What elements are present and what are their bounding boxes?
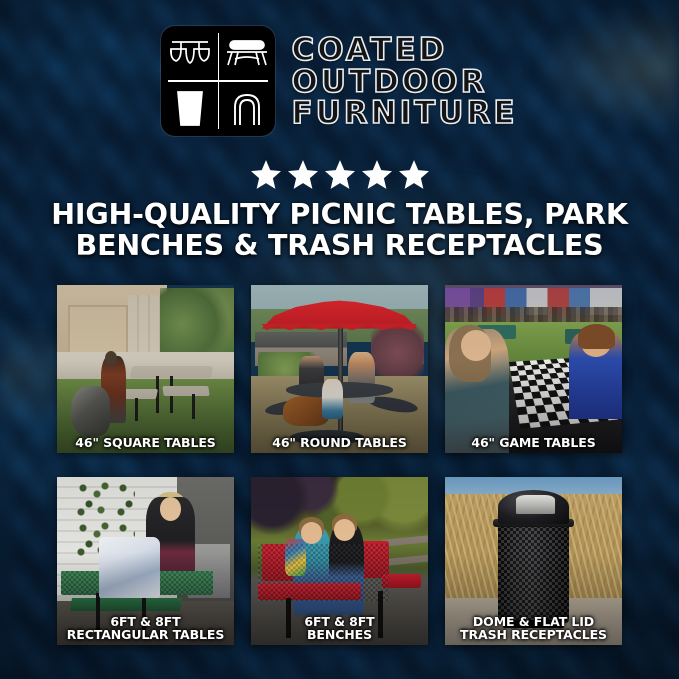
category-caption: 6FT & 8FT RECTANGULAR TABLES [59,615,232,642]
category-caption: DOME & FLAT LID TRASH RECEPTACLES [447,615,620,642]
category-tile-benches[interactable]: 6FT & 8FT BENCHES [251,477,428,645]
brand-wordmark: COATED OUTDOOR FURNITURE [291,33,517,128]
category-caption: 6FT & 8FT BENCHES [253,615,426,642]
star-icon [325,160,355,189]
picnic-table-icon [161,26,218,81]
headline-line-1: HIGH-QUALITY PICNIC TABLES, PARK [51,198,627,231]
wordmark-line-1: COATED [291,35,447,65]
tile-tint [251,285,428,453]
star-icon [399,160,429,189]
category-tile-square-tables[interactable]: 46" SQUARE TABLES [57,285,234,453]
wordmark-line-2: OUTDOOR [291,67,487,97]
category-tile-trash-receptacles[interactable]: DOME & FLAT LID TRASH RECEPTACLES [445,477,622,645]
category-caption: 46" ROUND TABLES [253,436,426,449]
trash-receptacle-icon [161,81,218,136]
star-icon [362,160,392,189]
headline-line-2: BENCHES & TRASH RECEPTACLES [30,231,649,262]
product-banner: COATED OUTDOOR FURNITURE HIGH-QUALITY PI… [0,0,679,679]
star-icon [288,160,318,189]
star-rating [0,160,679,189]
tile-tint [445,285,622,453]
category-tile-rectangular-tables[interactable]: 6FT & 8FT RECTANGULAR TABLES [57,477,234,645]
wordmark-line-3: FURNITURE [291,98,517,128]
brand-logo: COATED OUTDOOR FURNITURE [0,26,679,136]
category-caption: 46" SQUARE TABLES [59,436,232,449]
bench-icon [218,26,275,81]
product-category-grid: 46" SQUARE TABLES [57,285,622,645]
page-title: HIGH-QUALITY PICNIC TABLES, PARK BENCHES… [30,200,649,262]
logo-icon-grid [161,26,275,136]
category-caption: 46" GAME TABLES [447,436,620,449]
arch-bike-rack-icon [218,81,275,136]
star-icon [251,160,281,189]
tile-tint [57,285,234,453]
banner-content: COATED OUTDOOR FURNITURE HIGH-QUALITY PI… [0,0,679,679]
category-tile-game-tables[interactable]: 46" GAME TABLES [445,285,622,453]
category-tile-round-tables[interactable]: 46" ROUND TABLES [251,285,428,453]
